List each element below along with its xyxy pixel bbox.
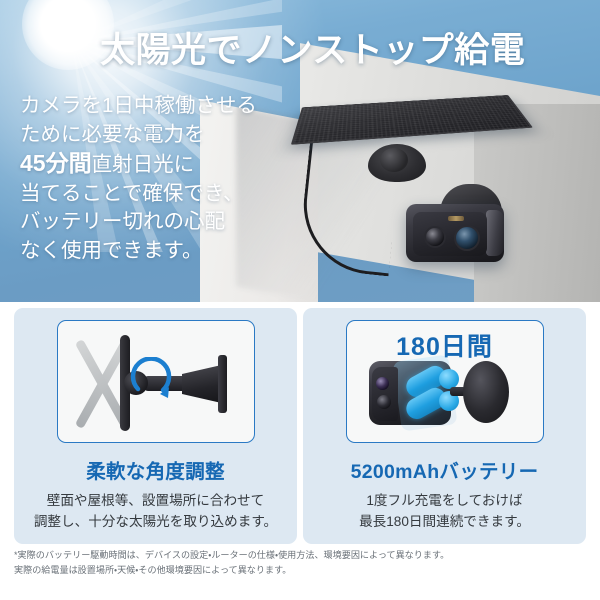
- camera-lens-secondary: [454, 225, 480, 251]
- hero-banner: 太陽光でノンストップ給電 カメラを1日中稼働させる ために必要な電力を 45分間…: [0, 0, 600, 302]
- card-desc-line-2: 調整し、十分な太陽光を取り込めます。: [34, 512, 277, 533]
- battery-cell-cap-upper: [439, 369, 459, 389]
- hero-line-4: 当てることで確保でき、: [20, 180, 290, 209]
- mount-base-plate: [218, 355, 227, 413]
- hero-line-1: カメラを1日中稼働させる: [20, 92, 290, 121]
- battery-camera-icon: 180日間: [346, 320, 544, 443]
- battery-camera-magnetic-mount: [463, 361, 509, 423]
- camera-side-panel: [486, 210, 504, 256]
- camera-lens-primary: [424, 226, 446, 248]
- hero-line-3-tail: 直射日光に: [92, 153, 195, 176]
- card-desc-line-1: 壁面や屋根等、設置場所に合わせて: [34, 491, 277, 512]
- card-desc-battery: 1度フル充電をしておけば 最長180日間連続できます。: [359, 491, 530, 532]
- battery-camera-lens-primary: [376, 377, 389, 390]
- status-badge-duration: 180日間: [347, 327, 543, 363]
- security-camera-icon: [406, 192, 526, 276]
- rotation-arrow-icon: [130, 357, 176, 403]
- battery-camera-front: [372, 367, 398, 421]
- solar-panel-assembly: [300, 84, 550, 174]
- feature-cards: 柔軟な角度調整 壁面や屋根等、設置場所に合わせて 調整し、十分な太陽光を取り込め…: [0, 302, 600, 544]
- footnote-line-2: 実際の給電量は設置場所・天候・その他環境要因によって異なります。: [14, 563, 586, 578]
- hero-line-6: なく使用できます。: [20, 237, 290, 266]
- hero-line-5: バッテリー切れの心配: [20, 208, 290, 237]
- adjustable-mount-bracket-icon: [57, 320, 255, 443]
- hero-description: カメラを1日中稼働させる ために必要な電力を 45分間直射日光に 当てることで確…: [20, 92, 290, 266]
- card-title-angle-adjustment: 柔軟な角度調整: [86, 455, 225, 484]
- disclaimer-footnote: *実際のバッテリー駆動時間は、デバイスの設定・ルーターの仕様・使用方法、環境要因…: [0, 548, 600, 577]
- mount-cone: [182, 365, 222, 403]
- card-desc-angle-adjustment: 壁面や屋根等、設置場所に合わせて 調整し、十分な太陽光を取り込めます。: [34, 491, 277, 532]
- solar-panel-icon: [291, 95, 533, 145]
- battery-camera-lens-secondary: [377, 395, 391, 409]
- hero-line-3: 45分間直射日光に: [20, 149, 290, 180]
- hero-emphasis-duration: 45分間: [20, 150, 92, 176]
- feature-card-battery[interactable]: 180日間 5200mAhバッテリー 1度フル充電をしておけば 最長180日間連…: [303, 308, 586, 544]
- panel-ball-joint-icon: [380, 148, 408, 172]
- card-desc-line-2: 最長180日間連続できます。: [359, 512, 530, 533]
- card-title-battery: 5200mAhバッテリー: [351, 455, 539, 484]
- camera-led-indicator: [448, 216, 464, 221]
- feature-card-angle-adjustment[interactable]: 柔軟な角度調整 壁面や屋根等、設置場所に合わせて 調整し、十分な太陽光を取り込め…: [14, 308, 297, 544]
- card-desc-line-1: 1度フル充電をしておけば: [359, 491, 530, 512]
- hero-line-2: ために必要な電力を: [20, 121, 290, 150]
- footnote-line-1: *実際のバッテリー駆動時間は、デバイスの設定・ルーターの仕様・使用方法、環境要因…: [14, 548, 586, 563]
- page-title: 太陽光でノンストップ給電: [100, 22, 580, 73]
